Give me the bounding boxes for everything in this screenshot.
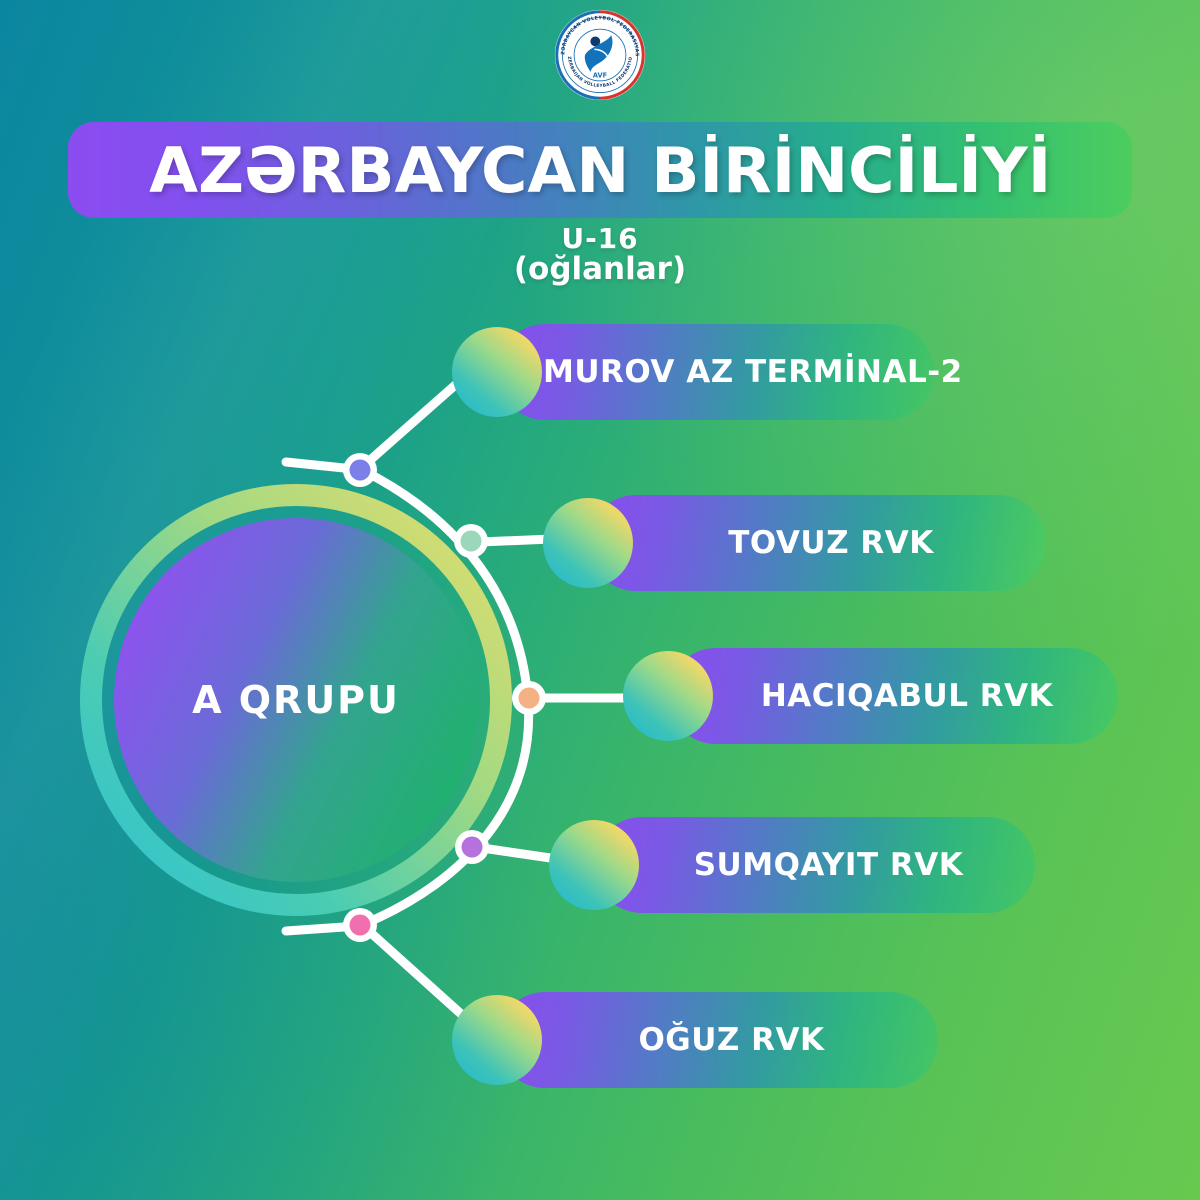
node-2[interactable] bbox=[454, 524, 488, 558]
team-dot-1 bbox=[452, 327, 542, 417]
team-label-5: OĞUZ RVK bbox=[497, 1022, 938, 1058]
team-pill-5[interactable]: OĞUZ RVK bbox=[497, 992, 938, 1088]
group-circle-label: A QRUPU bbox=[116, 678, 476, 722]
branch-5 bbox=[370, 932, 470, 1022]
poster-canvas: AVF AZƏRBAYCAN VOLEYBOL FEDERASİYASI AZE… bbox=[0, 0, 1200, 1200]
stub-bottom bbox=[286, 927, 344, 931]
node-4[interactable] bbox=[455, 830, 489, 864]
node-3[interactable] bbox=[512, 681, 546, 715]
team-label-2: TOVUZ RVK bbox=[588, 525, 1046, 561]
stub-top bbox=[286, 462, 344, 468]
team-pill-2[interactable]: TOVUZ RVK bbox=[588, 495, 1046, 591]
team-pill-4[interactable]: SUMQAYIT RVK bbox=[594, 817, 1035, 913]
team-dot-4 bbox=[549, 820, 639, 910]
team-label-4: SUMQAYIT RVK bbox=[594, 847, 1035, 883]
team-dot-5 bbox=[452, 995, 542, 1085]
team-label-1: MUROV AZ TERMİNAL-2 bbox=[497, 354, 981, 390]
team-pill-3[interactable]: HACIQABUL RVK bbox=[668, 648, 1118, 744]
node-5[interactable] bbox=[343, 908, 377, 942]
node-1[interactable] bbox=[343, 453, 377, 487]
team-pill-1[interactable]: MUROV AZ TERMİNAL-2 bbox=[497, 324, 934, 420]
team-dot-3 bbox=[623, 651, 713, 741]
team-label-3: HACIQABUL RVK bbox=[668, 678, 1118, 714]
team-dot-2 bbox=[543, 498, 633, 588]
